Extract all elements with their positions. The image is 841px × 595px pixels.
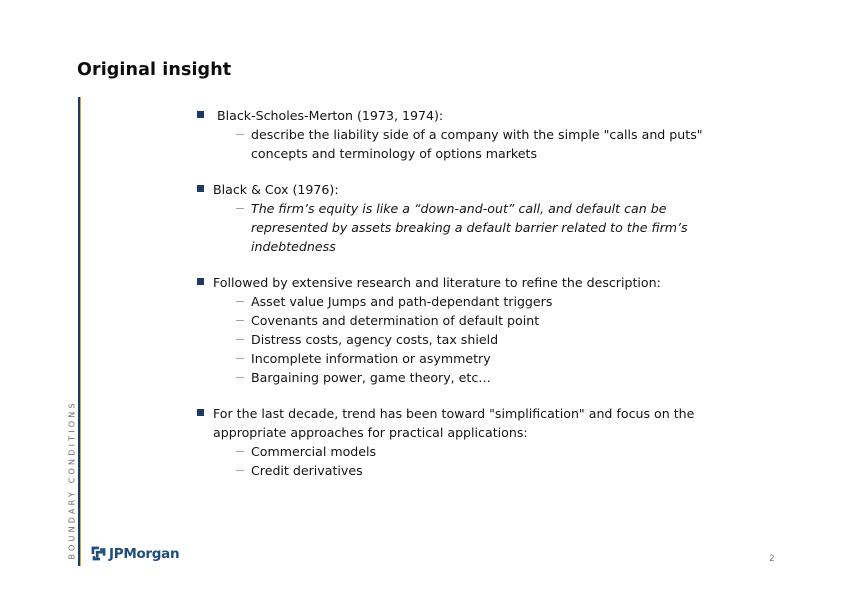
dash-bullet-icon <box>236 358 244 359</box>
page-title: Original insight <box>77 60 231 80</box>
bullet-level-2-label: Incomplete information or asymmetry <box>251 351 491 366</box>
bullet-level-2-label: Credit derivatives <box>251 463 363 478</box>
bullet-level-2: Distress costs, agency costs, tax shield <box>196 330 716 349</box>
dash-bullet-icon <box>236 470 244 471</box>
bullet-level-2: Incomplete information or asymmetry <box>196 349 716 368</box>
bullet-level-2-label: describe the liability side of a company… <box>251 127 703 161</box>
dash-bullet-icon <box>236 301 244 302</box>
dash-bullet-icon <box>236 339 244 340</box>
jpmorgan-wordmark: JPMorgan <box>109 548 179 562</box>
bullet-group: Black & Cox (1976):The firm’s equity is … <box>196 180 716 256</box>
jpmorgan-spiral-mark <box>90 545 107 562</box>
bullet-level-1: Black & Cox (1976): <box>196 180 716 199</box>
bullet-level-2: The firm’s equity is like a “down-and-ou… <box>196 199 716 256</box>
sub-bullet-list: Asset value Jumps and path-dependant tri… <box>196 292 716 387</box>
bullet-level-2: Covenants and determination of default p… <box>196 311 716 330</box>
bullet-level-1-label: Black & Cox (1976): <box>213 182 339 197</box>
sub-bullet-list: describe the liability side of a company… <box>196 125 716 163</box>
page-number: 2 <box>769 554 775 564</box>
dash-bullet-icon <box>236 134 244 135</box>
square-bullet-icon <box>197 185 204 192</box>
bullet-group: Followed by extensive research and liter… <box>196 273 716 387</box>
bullet-level-2-label: Bargaining power, game theory, etc… <box>251 370 491 385</box>
bullet-level-1-label: Black-Scholes-Merton (1973, 1974): <box>217 108 443 123</box>
bullet-level-2: Bargaining power, game theory, etc… <box>196 368 716 387</box>
bullet-group: For the last decade, trend has been towa… <box>196 404 716 480</box>
bullet-level-1: Black-Scholes-Merton (1973, 1974): <box>196 106 716 125</box>
bullet-level-2-label: Commercial models <box>251 444 376 459</box>
square-bullet-icon <box>197 278 204 285</box>
bullet-level-1: For the last decade, trend has been towa… <box>196 404 716 442</box>
dash-bullet-icon <box>236 451 244 452</box>
bullet-level-2: Commercial models <box>196 442 716 461</box>
dash-bullet-icon <box>236 320 244 321</box>
bullet-level-1: Followed by extensive research and liter… <box>196 273 716 292</box>
bullet-level-2: Credit derivatives <box>196 461 716 480</box>
bullet-group: Black-Scholes-Merton (1973, 1974):descri… <box>196 106 716 163</box>
bullet-level-1-label: For the last decade, trend has been towa… <box>213 406 694 440</box>
square-bullet-icon <box>197 111 204 118</box>
bullet-level-2-label: Covenants and determination of default p… <box>251 313 539 328</box>
slide-body: Black-Scholes-Merton (1973, 1974):descri… <box>196 106 716 495</box>
bullet-level-2: describe the liability side of a company… <box>196 125 716 163</box>
bullet-level-2-label: Distress costs, agency costs, tax shield <box>251 332 498 347</box>
sub-bullet-list: Commercial modelsCredit derivatives <box>196 442 716 480</box>
bullet-level-2-label: The firm’s equity is like a “down-and-ou… <box>251 201 688 254</box>
jpmorgan-logo: JPMorgan <box>90 545 179 562</box>
bullet-level-1-label: Followed by extensive research and liter… <box>213 275 661 290</box>
slide-canvas: Original insight BOUNDARY CONDITIONS Bla… <box>0 0 841 595</box>
bullet-level-2: Asset value Jumps and path-dependant tri… <box>196 292 716 311</box>
bullet-level-2-label: Asset value Jumps and path-dependant tri… <box>251 294 552 309</box>
dash-bullet-icon <box>236 208 244 209</box>
sub-bullet-list: The firm’s equity is like a “down-and-ou… <box>196 199 716 256</box>
dash-bullet-icon <box>236 377 244 378</box>
square-bullet-icon <box>197 409 204 416</box>
sidebar-section-caption: BOUNDARY CONDITIONS <box>68 360 77 560</box>
vertical-rule-gold-accent <box>80 97 81 566</box>
